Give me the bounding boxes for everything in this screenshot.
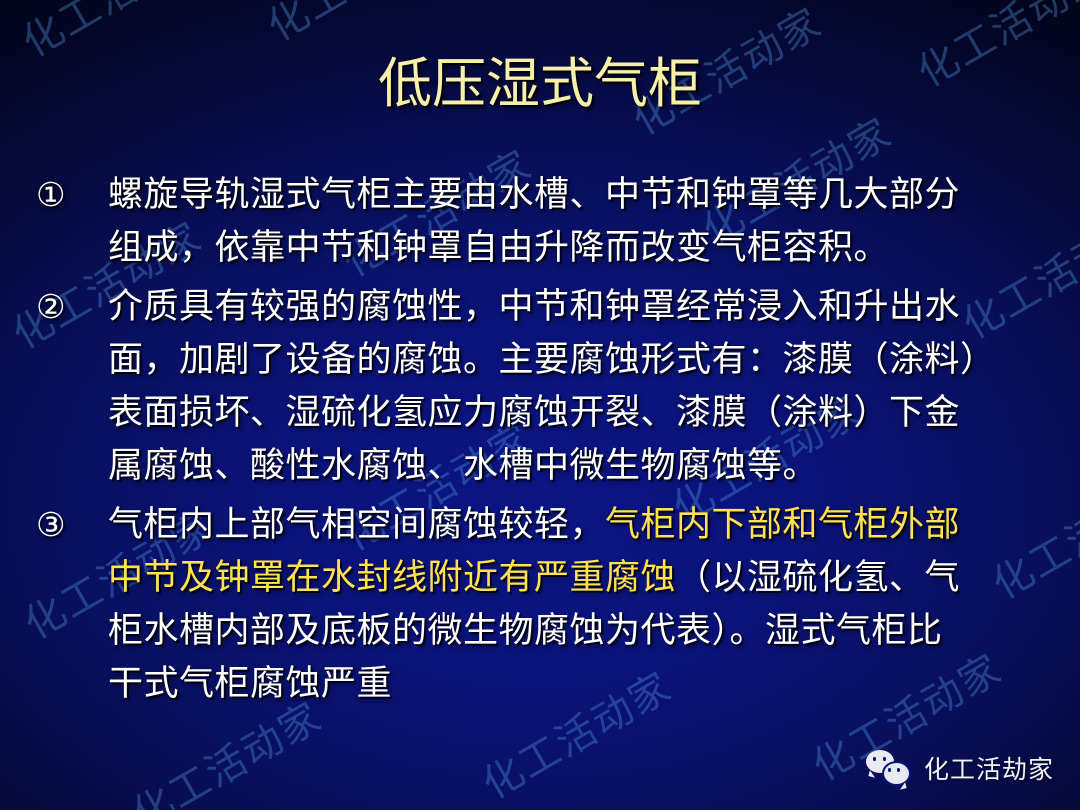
text-line: 组成，依靠中节和钟罩自由升降而改变气柜容积。 (0, 221, 1080, 274)
page-title: 低压湿式气柜 (0, 56, 1080, 113)
presentation-slide: 化工活动家化工活动家化工活动家化工活动家化工活动家化工活动家化工活动家化工活动家… (0, 0, 1080, 810)
text-line: 柜水槽内部及底板的微生物腐蚀为代表）。湿式气柜比 (0, 604, 1080, 657)
text-line: 表面损坏、湿硫化氢应力腐蚀开裂、漆膜（涂料）下金 (0, 386, 1080, 439)
text-run: 柜水槽内部及底板的微生物腐蚀为代表）。湿式气柜比 (108, 611, 943, 650)
account-name-label: 化工活劫家 (924, 750, 1054, 786)
list-marker: ③ (36, 498, 90, 551)
list-item: ③气柜内上部气相空间腐蚀较轻，气柜内下部和气柜外部中节及钟罩在水封线附近有严重腐… (0, 498, 1080, 710)
highlighted-text-run: 中节及钟罩在水封线附近有严重腐蚀 (108, 558, 676, 597)
text-run: 介质具有较强的腐蚀性，中节和钟罩经常浸入和升出水 (108, 287, 960, 326)
text-line: ①螺旋导轨湿式气柜主要由水槽、中节和钟罩等几大部分 (0, 168, 1080, 221)
text-run: 面，加剧了设备的腐蚀。主要腐蚀形式有：漆膜（涂料） (108, 340, 996, 379)
text-line: ③气柜内上部气相空间腐蚀较轻，气柜内下部和气柜外部 (0, 498, 1080, 551)
footer-account-logo: 化工活劫家 (866, 750, 1054, 786)
list-item: ②介质具有较强的腐蚀性，中节和钟罩经常浸入和升出水面，加剧了设备的腐蚀。主要腐蚀… (0, 280, 1080, 492)
text-run: （以湿硫化氢、气 (676, 558, 960, 597)
list-marker: ① (36, 168, 90, 221)
text-line: 面，加剧了设备的腐蚀。主要腐蚀形式有：漆膜（涂料） (0, 333, 1080, 386)
text-run: 表面损坏、湿硫化氢应力腐蚀开裂、漆膜（涂料）下金 (108, 393, 960, 432)
text-run: 干式气柜腐蚀严重 (108, 664, 392, 703)
wechat-icon (866, 750, 912, 786)
watermark-text: 化工活动家 (255, 0, 466, 52)
text-run: 组成，依靠中节和钟罩自由升降而改变气柜容积。 (108, 228, 889, 267)
list-item: ①螺旋导轨湿式气柜主要由水槽、中节和钟罩等几大部分组成，依靠中节和钟罩自由升降而… (0, 168, 1080, 274)
text-line: 干式气柜腐蚀严重 (0, 657, 1080, 710)
slide-body: ①螺旋导轨湿式气柜主要由水槽、中节和钟罩等几大部分组成，依靠中节和钟罩自由升降而… (0, 168, 1080, 716)
list-marker: ② (36, 280, 90, 333)
text-run: 螺旋导轨湿式气柜主要由水槽、中节和钟罩等几大部分 (108, 175, 960, 214)
highlighted-text-run: 气柜内下部和气柜外部 (605, 505, 960, 544)
text-line: 中节及钟罩在水封线附近有严重腐蚀（以湿硫化氢、气 (0, 551, 1080, 604)
text-line: 属腐蚀、酸性水腐蚀、水槽中微生物腐蚀等。 (0, 439, 1080, 492)
text-line: ②介质具有较强的腐蚀性，中节和钟罩经常浸入和升出水 (0, 280, 1080, 333)
text-run: 气柜内上部气相空间腐蚀较轻， (108, 505, 605, 544)
text-run: 属腐蚀、酸性水腐蚀、水槽中微生物腐蚀等。 (108, 446, 818, 485)
